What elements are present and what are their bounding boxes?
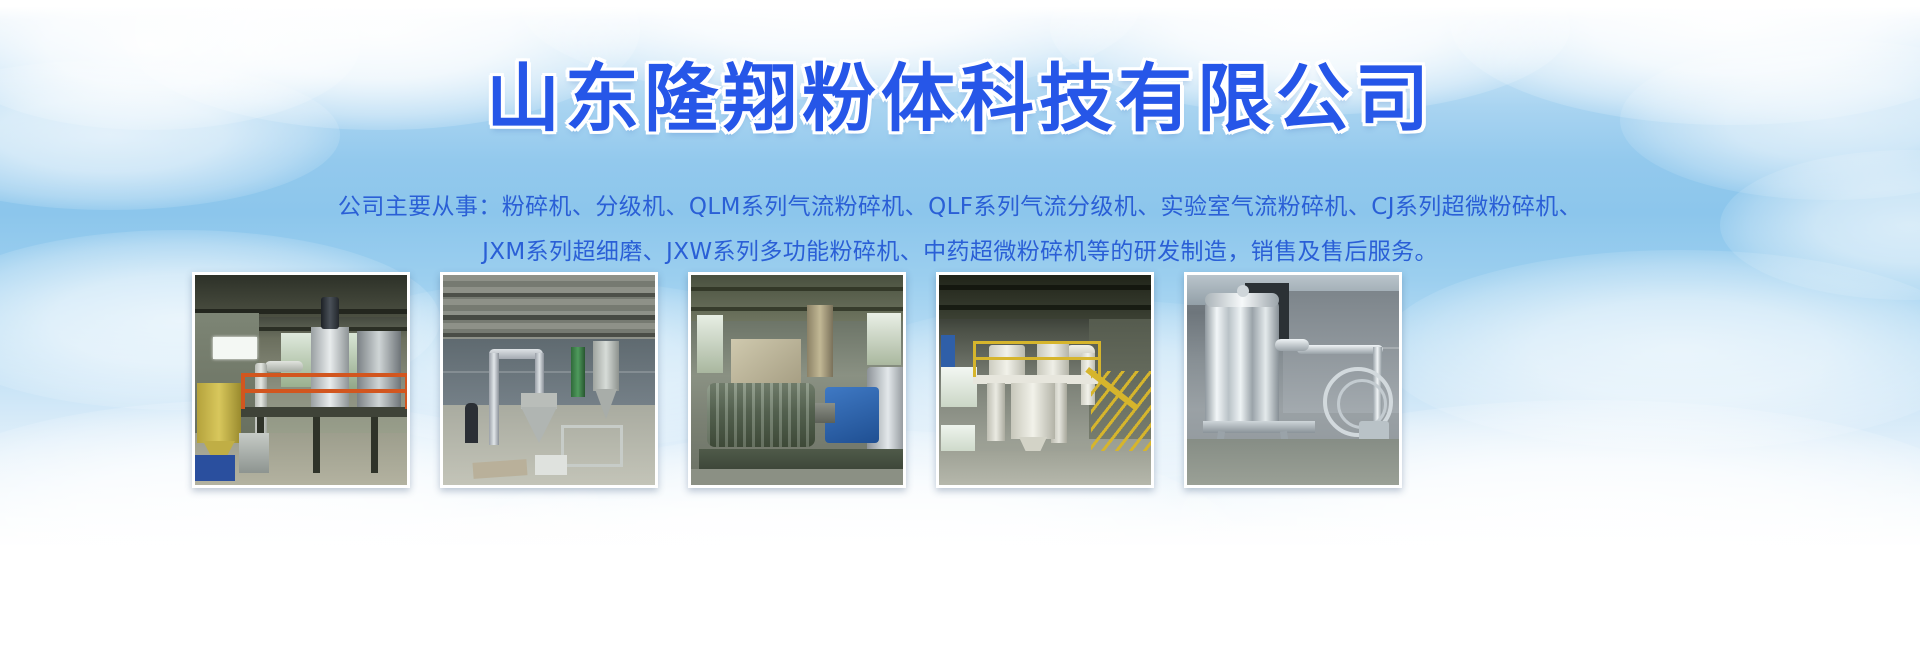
gallery-photo-1[interactable]: 气流粉碎机成套设备车间实景 <box>192 272 410 488</box>
page-title: 山东隆翔粉体科技有限公司 <box>0 58 1920 141</box>
gallery-photo-5[interactable]: 不锈钢超微粉碎设备 <box>1184 272 1402 488</box>
product-photo-gallery: 气流粉碎机成套设备车间实景 粉碎分级生产车间全景 <box>192 272 1402 490</box>
photo-air-jet-mill-plant: 气流粉碎机成套设备车间实景 <box>195 275 407 485</box>
hero-banner: 山东隆翔粉体科技有限公司 公司主要从事：粉碎机、分级机、QLM系列气流粉碎机、Q… <box>0 0 1920 667</box>
cloud-shape <box>1380 250 1920 450</box>
hero-subtitle-line-1: 公司主要从事：粉碎机、分级机、QLM系列气流粉碎机、QLF系列气流分级机、实验室… <box>0 196 1920 219</box>
photo-motor-and-mill: 大型电机及粉碎机主机 <box>691 275 903 485</box>
hero-text-block: 山东隆翔粉体科技有限公司 公司主要从事：粉碎机、分级机、QLM系列气流粉碎机、Q… <box>0 0 1920 264</box>
photo-workshop-overview: 粉碎分级生产车间全景 <box>443 275 655 485</box>
hero-subtitle-line-2: JXM系列超细磨、JXW系列多功能粉碎机、中药超微粉碎机等的研发制造，销售及售后… <box>0 241 1920 264</box>
photo-stainless-equipment: 不锈钢超微粉碎设备 <box>1187 275 1399 485</box>
cloud-shape <box>200 500 1100 667</box>
photo-classifier-plant: 超微粉碎分级生产线 <box>939 275 1151 485</box>
cloud-shape <box>900 520 1800 667</box>
gallery-photo-3[interactable]: 大型电机及粉碎机主机 <box>688 272 906 488</box>
gallery-photo-2[interactable]: 粉碎分级生产车间全景 <box>440 272 658 488</box>
gallery-photo-4[interactable]: 超微粉碎分级生产线 <box>936 272 1154 488</box>
